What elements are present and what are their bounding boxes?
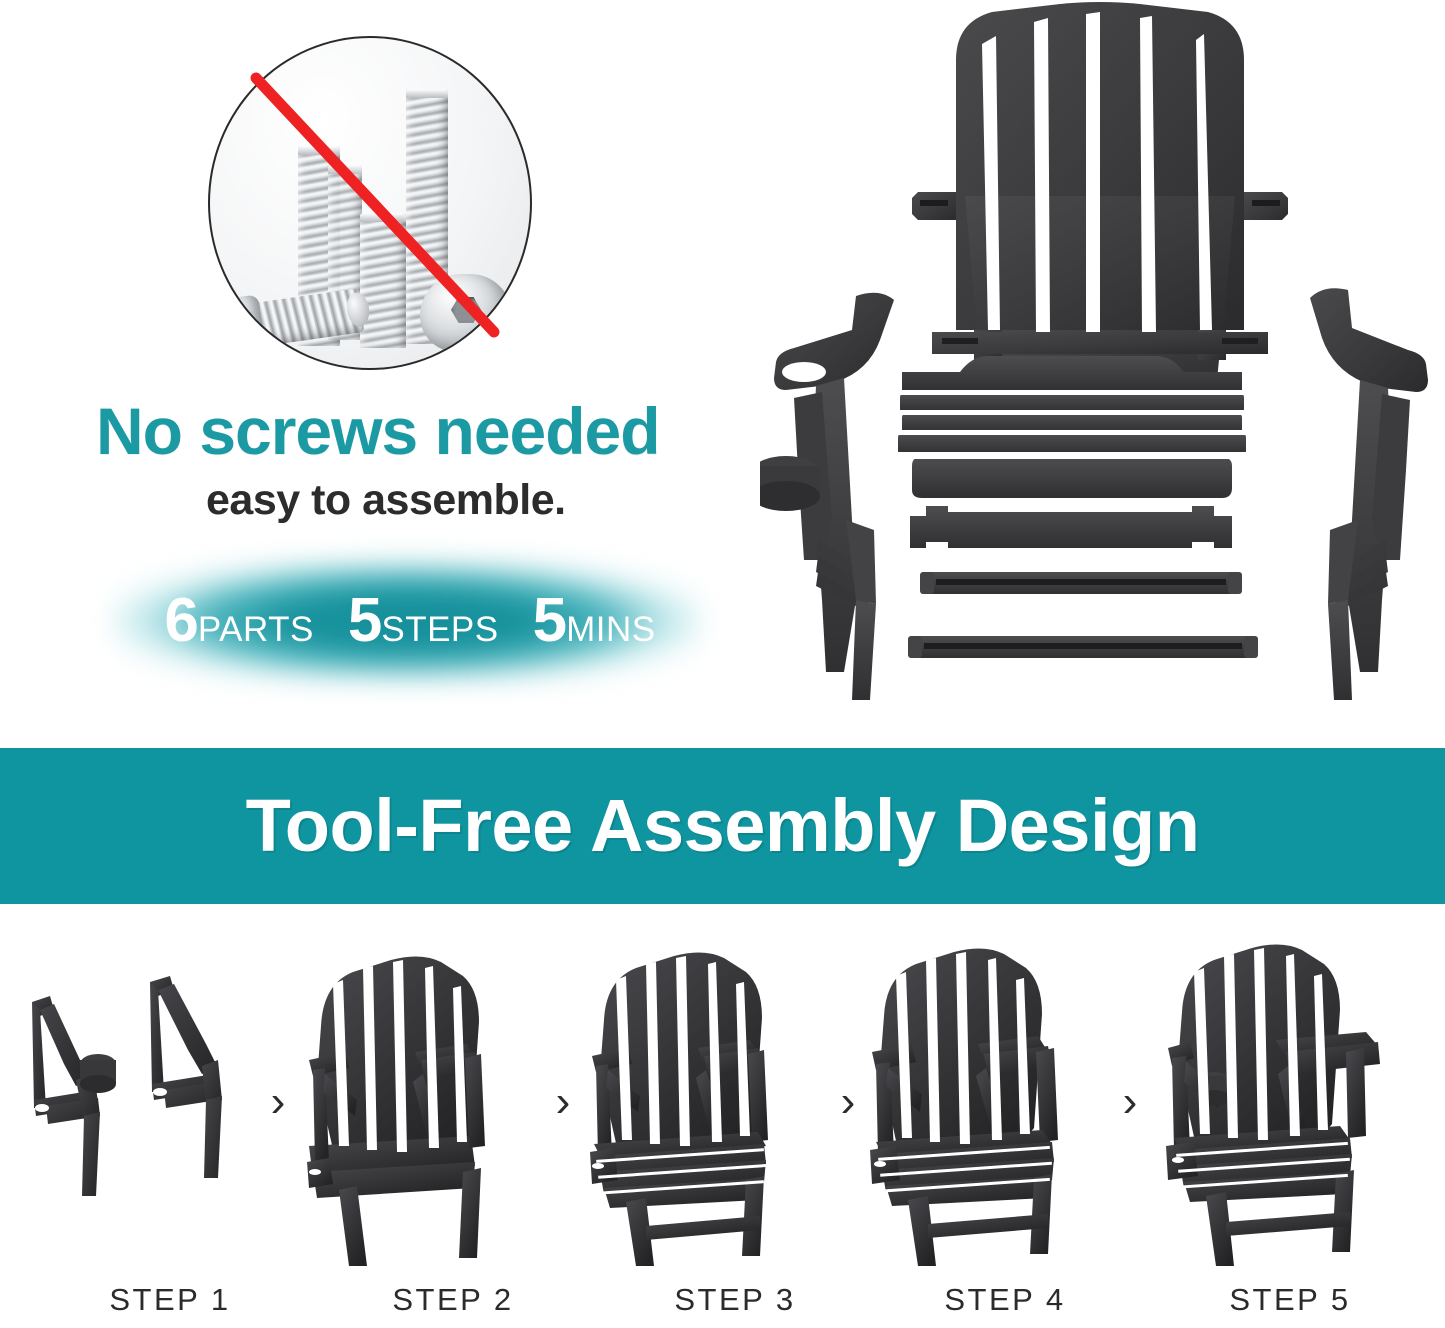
stat-mins: 5 MINS [533,590,656,652]
step-3: › [580,940,850,1270]
step-separator-4: › [1110,1076,1150,1128]
banner-title: Tool-Free Assembly Design [246,789,1200,863]
part-front-apron [910,506,1232,548]
stat-steps-unit: STEPS [381,612,498,647]
step-separator-2: › [543,1076,583,1128]
exploded-parts-diagram [760,0,1445,720]
step-5-illustration [1150,940,1420,1270]
step-5 [1150,940,1420,1270]
step-label-3: STEP 3 [600,1280,870,1320]
top-section: No screws needed easy to assemble. 6 PAR… [0,0,1445,748]
stats-text-row: 6 PARTS 5 STEPS 5 MINS [60,562,760,680]
stat-parts: 6 PARTS [164,590,313,652]
bolt-head [212,294,266,360]
part-support-rail-upper [920,572,1242,594]
part-support-rail-lower [908,636,1258,658]
step-2: › [295,940,565,1270]
stat-mins-number: 5 [533,590,566,652]
side-frame-right [150,976,222,1178]
screw-photo-inner [210,38,530,368]
stat-steps-number: 5 [348,590,381,652]
stats-badge: 6 PARTS 5 STEPS 5 MINS [60,540,760,710]
hex-socket-icon [451,297,481,323]
step-2-illustration [295,940,565,1270]
no-screws-photo [208,36,532,370]
part-right-side-frame [1310,288,1428,700]
part-left-side-frame [760,293,894,700]
step-1: › [10,940,280,1270]
bolt-lying-icon [212,280,369,362]
bolt-shaft [247,288,364,347]
infographic-page: No screws needed easy to assemble. 6 PAR… [0,0,1445,1328]
assembly-steps-row: › [0,940,1445,1270]
headline-sub: easy to assemble. [206,479,826,522]
step-labels-row: STEP 1 STEP 2 STEP 3 STEP 4 STEP 5 [0,1280,1445,1324]
part-seat-slats [898,356,1246,498]
step-label-4: STEP 4 [870,1280,1140,1320]
step-label-1: STEP 1 [35,1280,305,1320]
stat-steps: 5 STEPS [348,590,499,652]
step-label-5: STEP 5 [1155,1280,1425,1320]
step-separator-1: › [258,1076,298,1128]
step-label-2: STEP 2 [318,1280,588,1320]
step-4-illustration [862,940,1132,1270]
step-4: › [862,940,1132,1270]
stat-parts-unit: PARTS [198,612,314,647]
step-1-illustration [10,940,280,1270]
socket-screw-head-icon [420,274,512,352]
stat-parts-number: 6 [164,590,197,652]
headline-main: No screws needed [96,398,716,464]
section-banner: Tool-Free Assembly Design [0,748,1445,904]
stat-mins-unit: MINS [566,612,656,647]
side-frame-left [32,996,116,1196]
step-3-illustration [580,940,850,1270]
